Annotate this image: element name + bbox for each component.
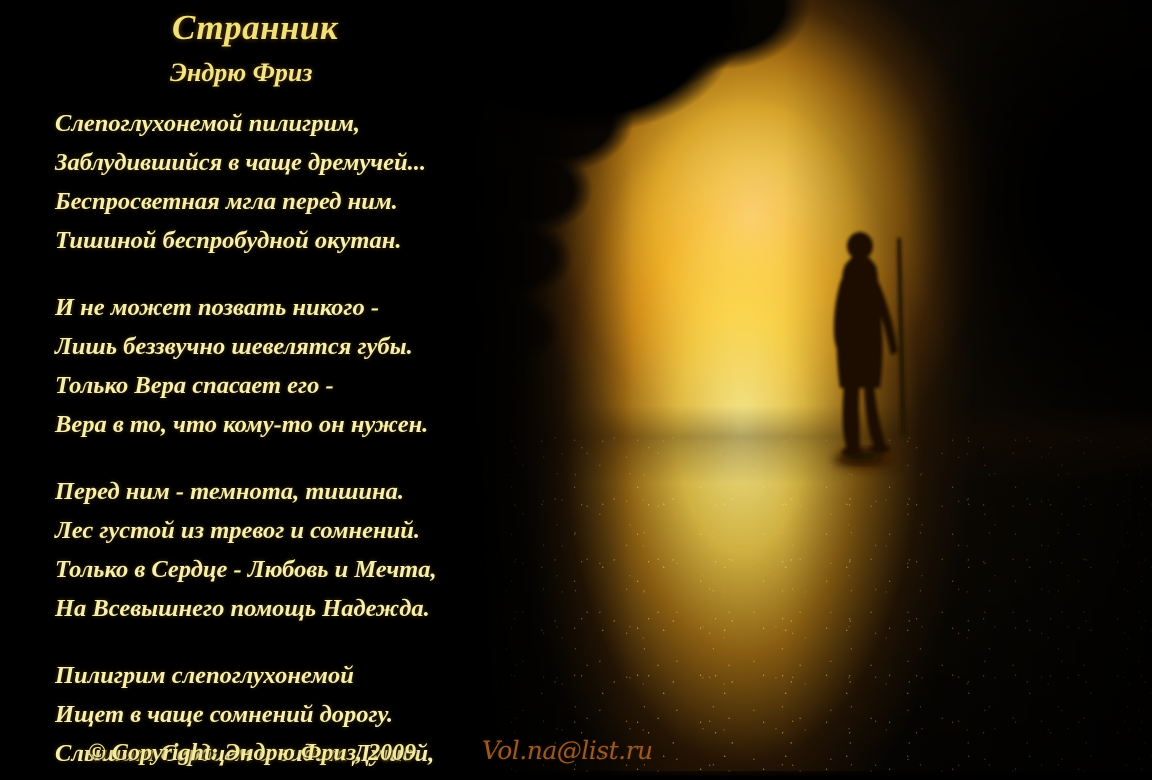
stanza: Перед ним - темнота, тишина. Лес густой … bbox=[55, 472, 555, 628]
poem-line: Вера в то, что кому-то он нужен. bbox=[55, 405, 555, 444]
poem-line: Только в Сердце - Любовь и Мечта, bbox=[55, 550, 555, 589]
stanza: И не может позвать никого - Лишь беззвуч… bbox=[55, 288, 555, 444]
poem-line: Пилигрим слепоглухонемой bbox=[55, 656, 555, 695]
poem-line: Тишиной беспробудной окутан. bbox=[55, 221, 555, 260]
poem-author: Эндрю Фриз bbox=[170, 58, 312, 88]
poem-line: Заблудившийся в чаще дремучей... bbox=[55, 143, 555, 182]
poem-line: Перед ним - темнота, тишина. bbox=[55, 472, 555, 511]
poem-line: И не может позвать никого - bbox=[55, 288, 555, 327]
poem-line: Слепоглухонемой пилигрим, bbox=[55, 104, 555, 143]
copyright-notice: © Copyright: Эндрю Фриз, 2009 bbox=[88, 740, 416, 767]
poem-text-column: Странник Эндрю Фриз Слепоглухонемой пили… bbox=[0, 0, 560, 780]
poem-line: Ищет в чаще сомнений дорогу. bbox=[55, 695, 555, 734]
poem-stanzas: Слепоглухонемой пилигрим, Заблудившийся … bbox=[55, 104, 555, 780]
poem-title: Странник bbox=[172, 8, 338, 48]
pilgrim-silhouette-icon bbox=[818, 222, 938, 482]
author-email-signature: Vol.na@list.ru bbox=[482, 736, 653, 765]
poem-line: Только Вера спасает его - bbox=[55, 366, 555, 405]
poem-line: На Всевышнего помощь Надежда. bbox=[55, 589, 555, 628]
poem-line: Беспросветная мгла перед ним. bbox=[55, 182, 555, 221]
poem-poster: Странник Эндрю Фриз Слепоглухонемой пили… bbox=[0, 0, 1152, 780]
stanza: Слепоглухонемой пилигрим, Заблудившийся … bbox=[55, 104, 555, 260]
poem-line: Обращаясь с молитвами к Богу... bbox=[55, 773, 555, 780]
poem-line: Лишь беззвучно шевелятся губы. bbox=[55, 327, 555, 366]
poem-line: Лес густой из тревог и сомнений. bbox=[55, 511, 555, 550]
